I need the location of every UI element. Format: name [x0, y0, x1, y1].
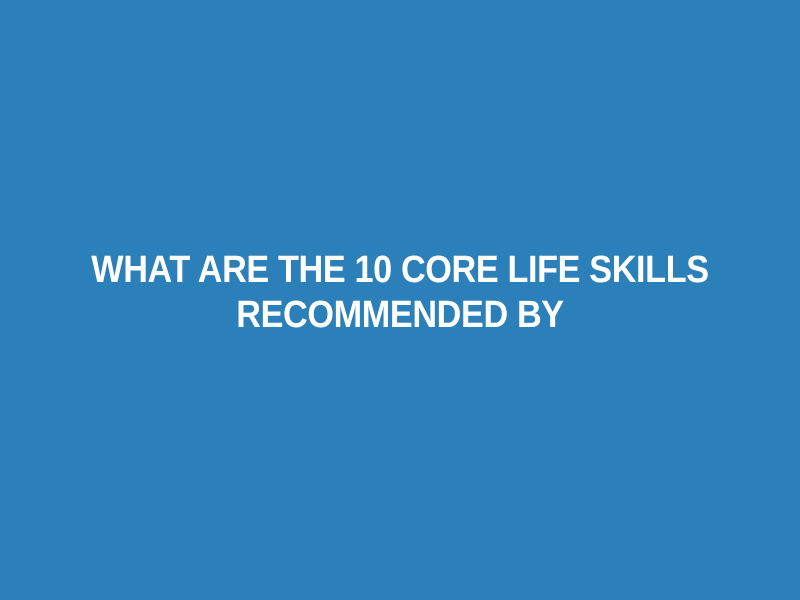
banner-title-line-2: RECOMMENDED BY	[87, 293, 713, 338]
featured-image-banner: WHAT ARE THE 10 CORE LIFE SKILLS RECOMME…	[0, 0, 800, 600]
banner-title-line-1: WHAT ARE THE 10 CORE LIFE SKILLS	[87, 248, 713, 293]
banner-title: WHAT ARE THE 10 CORE LIFE SKILLS RECOMME…	[0, 248, 800, 338]
